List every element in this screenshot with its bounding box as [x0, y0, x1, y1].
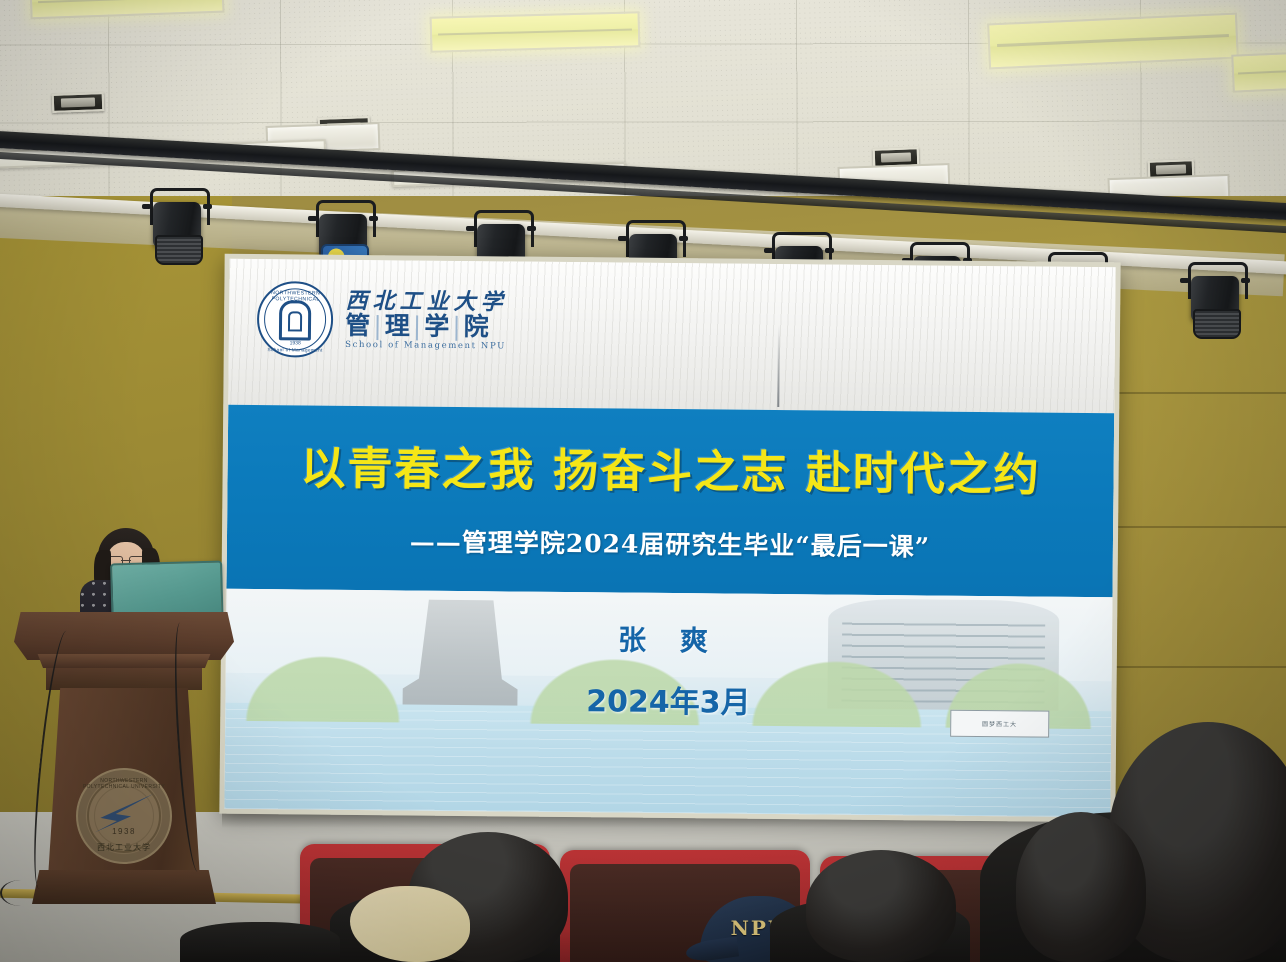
- school-name-en: School of Management NPU: [345, 340, 507, 352]
- audience-head: [806, 850, 956, 962]
- audience-area: NPU: [0, 812, 1286, 962]
- school-crest-icon: NORTHWESTERN POLYTECHNICAL 1938 School o…: [257, 281, 334, 358]
- school-logo-text: 西北工业大学 管|理|学|院 School of Management NPU: [345, 290, 508, 352]
- school-char-3: 学: [424, 312, 451, 341]
- podium-top: [14, 612, 234, 660]
- audience-shoulders: [180, 922, 340, 962]
- school-logo: NORTHWESTERN POLYTECHNICAL 1938 School o…: [257, 281, 508, 359]
- slide-presenter-name: 张 爽: [226, 615, 1112, 664]
- university-name-cn: 西北工业大学: [346, 290, 508, 314]
- crest-arc-bottom-text: School of Management: [259, 347, 331, 353]
- school-name-cn: 管|理|学|院: [345, 313, 507, 341]
- school-char-2: 理: [385, 311, 412, 340]
- slide-campus-illustration: 圆梦西工大 张 爽 2024年3月: [224, 589, 1112, 817]
- stage-spotlight: [146, 188, 208, 266]
- lecture-hall-photo: NORTHWESTERN POLYTECHNICAL 1938 School o…: [0, 0, 1286, 962]
- slide-presenter-date: 2024年3月: [225, 672, 1111, 725]
- crest-year: 1938: [259, 340, 331, 347]
- slide-title-band: 以青春之我 扬奋斗之志 赴时代之约 ——管理学院2024届研究生毕业“最后一课”: [226, 405, 1114, 598]
- projection-screen[interactable]: NORTHWESTERN POLYTECHNICAL 1938 School o…: [219, 254, 1120, 823]
- slide-main-title: 以青春之我 扬奋斗之志 赴时代之约: [227, 430, 1114, 504]
- school-char-1: 管: [345, 311, 372, 340]
- audience-head: [1016, 812, 1146, 962]
- ceiling-light-fluorescent: [1231, 49, 1286, 92]
- podium-seal-en: NORTHWESTERN POLYTECHNICAL UNIVERSITY: [78, 778, 170, 790]
- presentation-slide: NORTHWESTERN POLYTECHNICAL 1938 School o…: [224, 259, 1115, 817]
- ceiling-light-fluorescent: [430, 11, 641, 52]
- school-char-4: 院: [464, 312, 491, 341]
- slide-sub-title: ——管理学院2024届研究生毕业“最后一课”: [227, 521, 1113, 566]
- ceiling-vent: [52, 92, 105, 113]
- stage-spotlight: [1184, 262, 1246, 340]
